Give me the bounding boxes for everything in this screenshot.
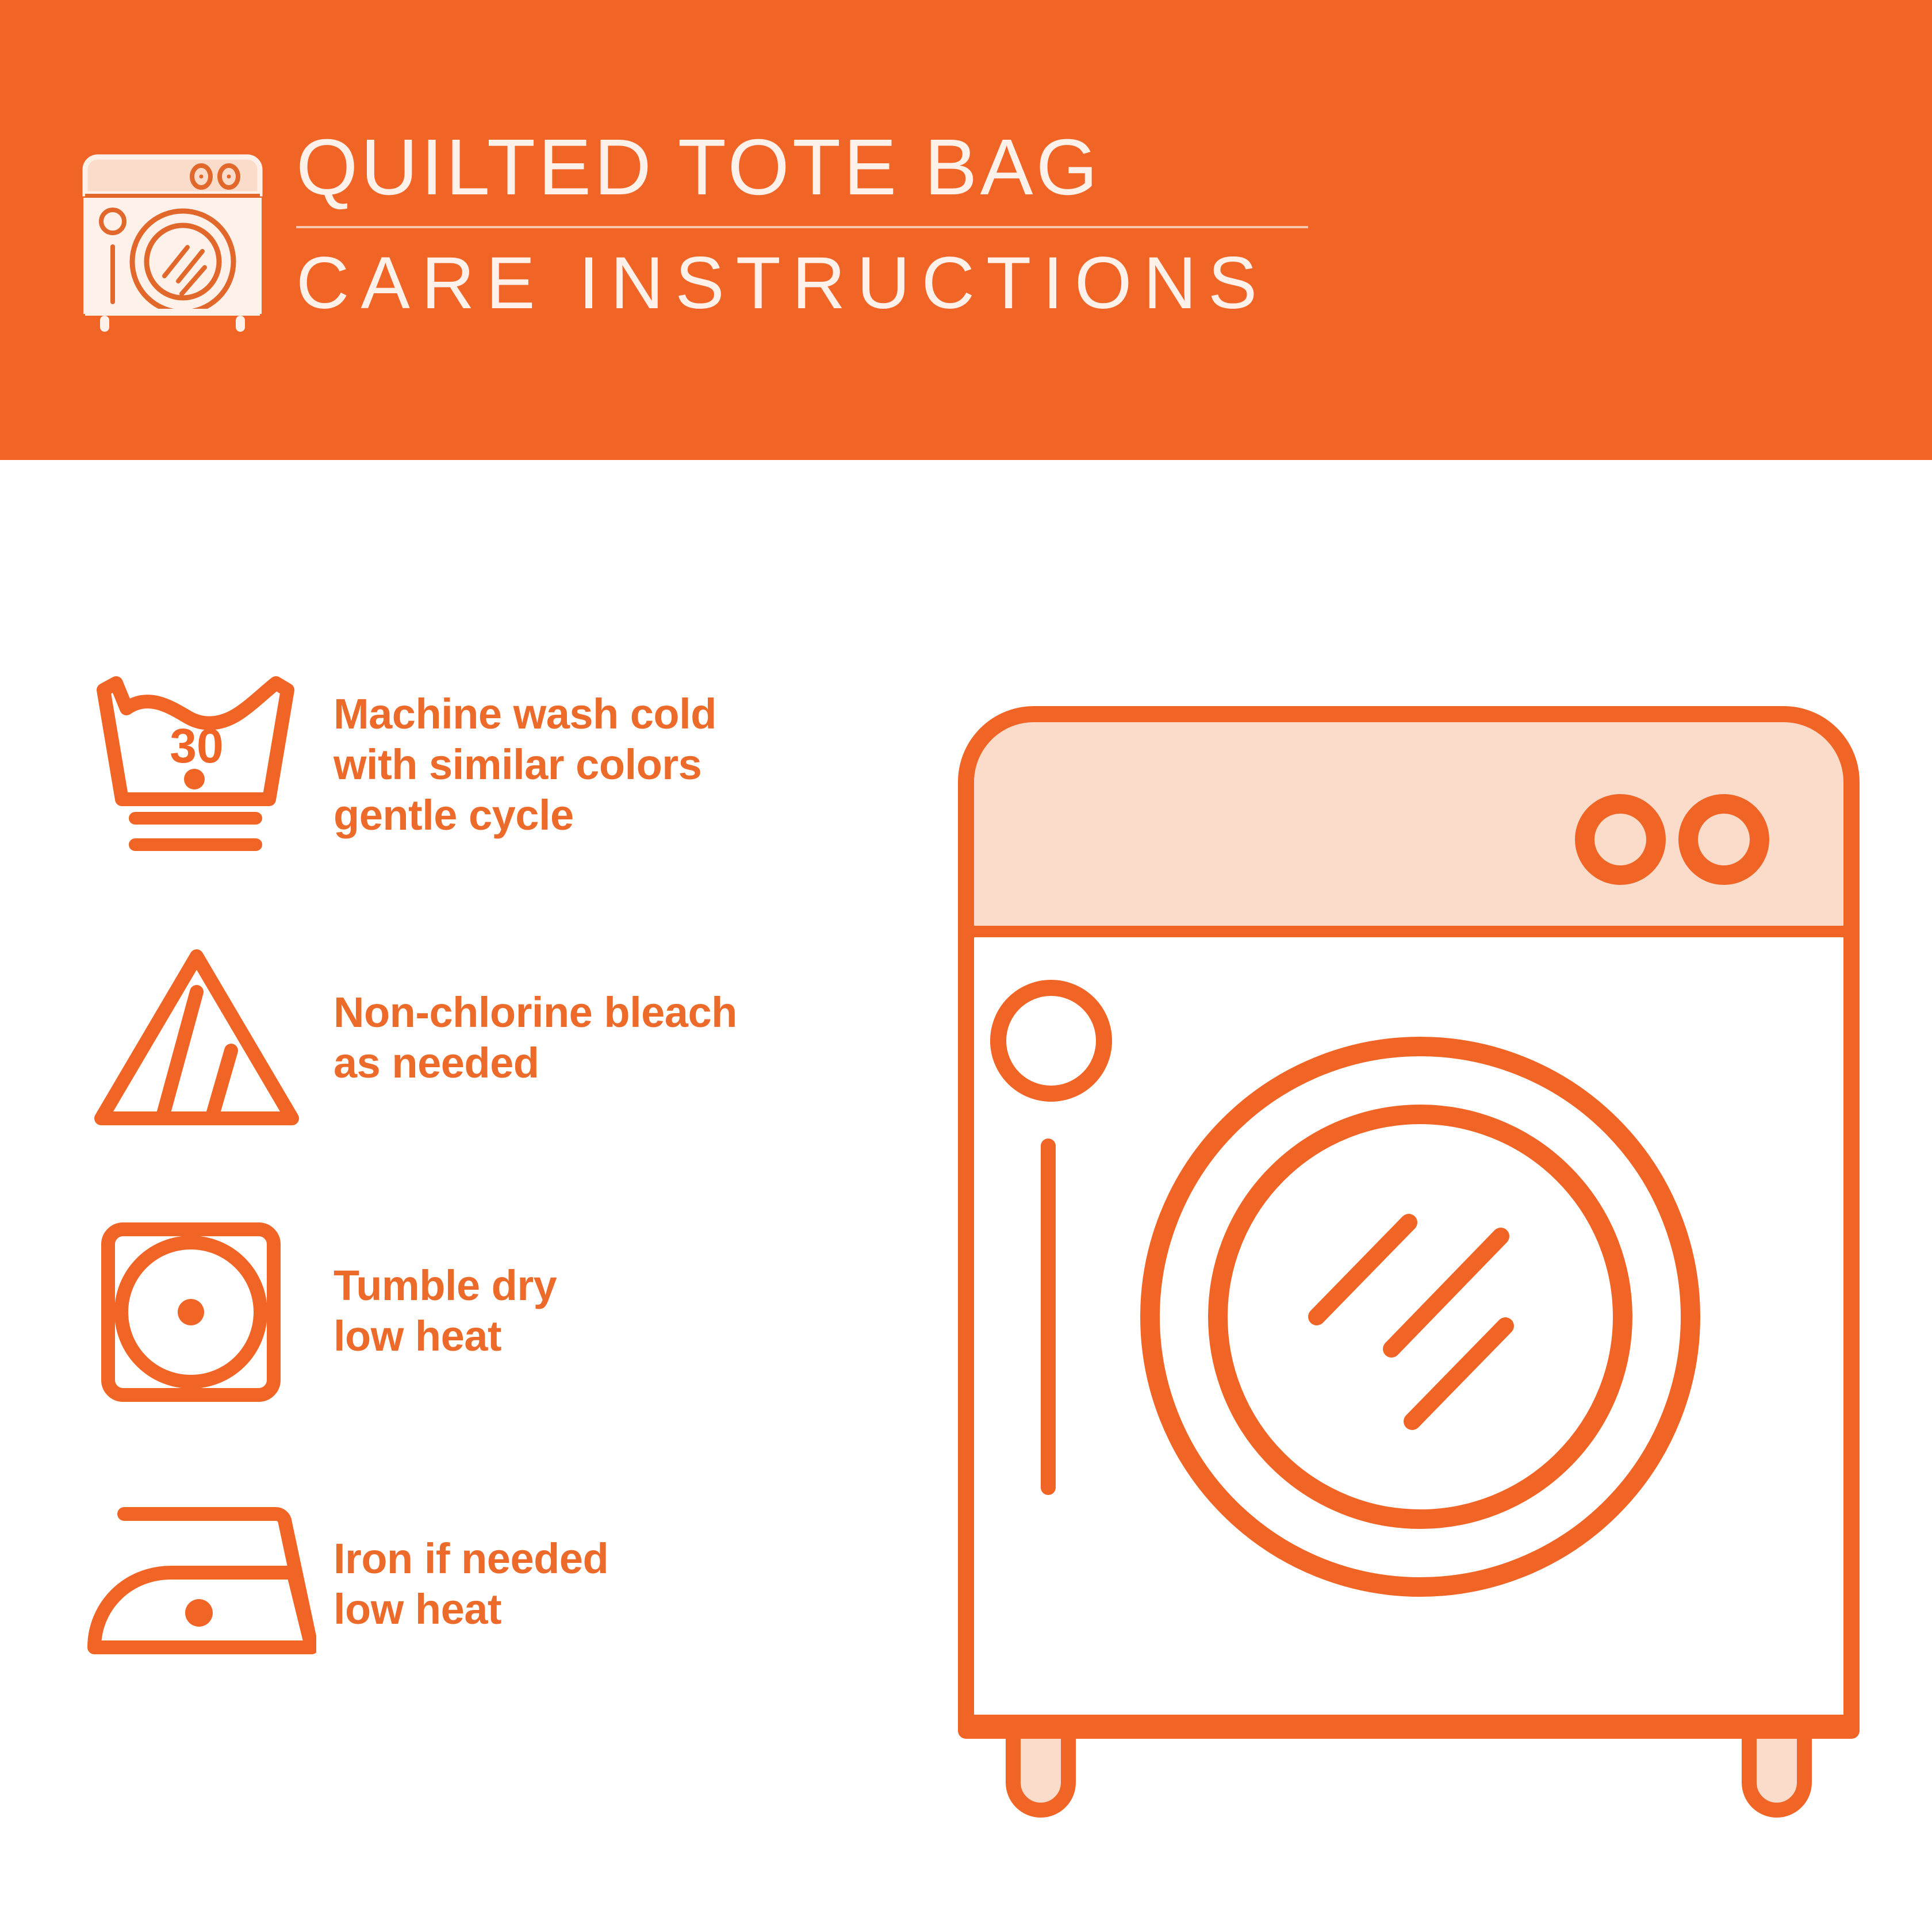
- care-line: with similar colors: [333, 739, 716, 790]
- machine-base-bar: [958, 1715, 1860, 1732]
- care-line: low heat: [333, 1311, 557, 1362]
- care-text-iron: Iron if needed low heat: [333, 1534, 608, 1635]
- header-title-group: QUILTED TOTE BAG CARE INSTRUCTIONS: [296, 124, 1308, 324]
- care-row-iron: Iron if needed low heat: [86, 1475, 972, 1693]
- care-row-bleach: Non-chlorine bleach as needed: [86, 929, 972, 1147]
- header-banner: QUILTED TOTE BAG CARE INSTRUCTIONS: [0, 0, 1932, 460]
- header-content: QUILTED TOTE BAG CARE INSTRUCTIONS: [80, 124, 1311, 354]
- care-line: low heat: [333, 1584, 608, 1635]
- care-line: as needed: [333, 1038, 737, 1088]
- page-title: QUILTED TOTE BAG: [296, 124, 1308, 211]
- care-text-machine-wash: Machine wash cold with similar colors ge…: [333, 689, 716, 841]
- care-line: Iron if needed: [333, 1534, 608, 1584]
- wash-temperature-label: 30: [170, 719, 223, 773]
- care-line: Tumble dry: [333, 1260, 557, 1311]
- care-line: Machine wash cold: [333, 689, 716, 739]
- care-row-machine-wash: 30 Machine wash cold with similar colors…: [86, 655, 972, 874]
- triangle-non-chlorine-bleach-icon: [86, 929, 316, 1147]
- care-line: Non-chlorine bleach: [333, 987, 737, 1038]
- machine-knob-right[interactable]: [1688, 804, 1759, 875]
- care-row-tumble-dry: Tumble dry low heat: [86, 1202, 972, 1420]
- wash-basin-30-gentle-icon: 30: [86, 655, 316, 874]
- page-subtitle: CARE INSTRUCTIONS: [296, 243, 1308, 324]
- iron-low-heat-icon: [86, 1475, 316, 1693]
- care-instructions-list: 30 Machine wash cold with similar colors…: [86, 655, 972, 1693]
- washing-machine-illustration: [949, 638, 1869, 1863]
- care-text-tumble-dry: Tumble dry low heat: [333, 1260, 557, 1362]
- washing-machine-icon: [80, 136, 264, 332]
- title-divider: [296, 226, 1308, 228]
- care-line: gentle cycle: [333, 790, 716, 841]
- care-text-bleach: Non-chlorine bleach as needed: [333, 987, 737, 1088]
- machine-knob-left[interactable]: [1585, 804, 1656, 875]
- door-latch-handle[interactable]: [1041, 1138, 1056, 1495]
- tumble-dry-low-heat-icon: [86, 1202, 316, 1420]
